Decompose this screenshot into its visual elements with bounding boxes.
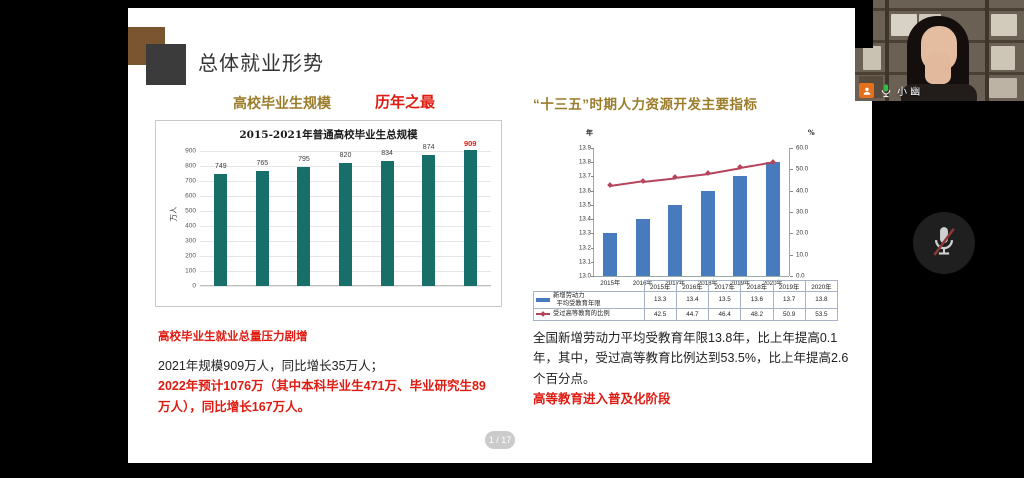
bar (297, 167, 310, 286)
right-body-line1: 全国新增劳动力平均受教育年限13.8年，比上年提高0.1年，其中，受过高等教育比… (533, 328, 851, 389)
bar (381, 161, 394, 286)
hr-bar (701, 191, 715, 276)
left-note-red: 高校毕业生就业总量压力剧增 (158, 328, 308, 344)
hr-left-tick: 13.8 (579, 159, 591, 166)
mute-microphone-button[interactable] (913, 212, 975, 274)
hr-bar (668, 205, 682, 276)
graduates-plot-area: 0100200300400500600700800900749765795820… (200, 151, 491, 286)
table-row: 新增劳动力 平均受教育年限13.313.413.513.613.713.8 (534, 292, 838, 309)
hr-left-tick: 13.5 (579, 201, 591, 208)
left-axis-unit: 年 (586, 128, 593, 138)
hr-legend-year: 2016年 (676, 281, 708, 292)
hr-left-tick: 13.0 (579, 273, 591, 280)
bar-value-label: 874 (423, 144, 435, 151)
screen: 总体就业形势 高校毕业生规模 历年之最 2015-2021年普通高校毕业生总规模… (0, 0, 1024, 478)
hr-bar (766, 162, 780, 276)
table-row: 受过高等教育的比例42.544.746.448.250.953.5 (534, 308, 838, 320)
hr-legend-bar-value: 13.3 (644, 292, 676, 309)
page-title: 总体就业形势 (198, 47, 324, 76)
bar (339, 163, 352, 286)
hr-left-tick: 13.7 (579, 173, 591, 180)
hr-legend-line-value: 48.2 (741, 308, 773, 320)
hr-right-tick: 0.0 (796, 273, 805, 280)
hr-plot-area: 13.013.113.213.313.413.513.613.713.813.9… (593, 148, 789, 277)
tick-mark (591, 176, 594, 177)
y-axis-tick: 300 (185, 238, 196, 245)
hr-left-tick: 13.1 (579, 258, 591, 265)
tick-mark (591, 148, 594, 149)
hr-right-tick: 10.0 (796, 251, 808, 258)
hr-left-tick: 13.9 (579, 145, 591, 152)
hr-line-segment (610, 181, 643, 187)
y-axis-tick: 100 (185, 268, 196, 275)
hr-legend-line-value: 50.9 (773, 308, 805, 320)
hr-legend-year: 2015年 (644, 281, 676, 292)
tick-mark (591, 191, 594, 192)
bar (422, 155, 435, 286)
hr-bar (636, 219, 650, 276)
hr-left-tick: 13.3 (579, 230, 591, 237)
hr-line-segment (675, 173, 708, 178)
y-axis-tick: 900 (185, 148, 196, 155)
microphone-icon (881, 83, 891, 99)
y-axis-tick: 500 (185, 208, 196, 215)
tick-mark (790, 191, 793, 192)
participant-video-tile[interactable]: 小 幽 (855, 0, 1024, 101)
y-axis-tick: 0 (192, 283, 196, 290)
tick-mark (591, 248, 594, 249)
bar-value-label: 765 (257, 160, 269, 167)
y-axis-tick: 700 (185, 178, 196, 185)
hr-legend-year: 2019年 (773, 281, 805, 292)
bar (214, 174, 227, 286)
hr-legend-year: 2018年 (741, 281, 773, 292)
bar-value-label: 795 (298, 156, 310, 163)
video-left-letterbox (855, 0, 873, 48)
hr-legend-table: 2015年2016年2017年2018年2019年2020年新增劳动力 平均受教… (533, 280, 838, 321)
hr-legend-line-value: 42.5 (644, 308, 676, 320)
hr-left-tick: 13.6 (579, 187, 591, 194)
right-subtitle-gold: “十三五”时期人力资源开发主要指标 (533, 93, 758, 113)
hr-bar (733, 176, 747, 276)
graduates-y-axis-label: 万人 (168, 206, 179, 221)
tick-mark (790, 169, 793, 170)
hr-left-tick: 13.4 (579, 216, 591, 223)
hr-line-marker (705, 170, 711, 176)
hr-legend-year: 2017年 (709, 281, 741, 292)
hr-legend-bar-value: 13.7 (773, 292, 805, 309)
slide-page-indicator: 1 / 17 (485, 431, 515, 449)
left-body-line1: 2021年规模909万人，同比增长35万人； (158, 356, 488, 376)
hr-line-segment (708, 167, 741, 174)
hr-right-tick: 20.0 (796, 230, 808, 237)
bar-value-label: 820 (340, 152, 352, 159)
hr-legend-header-row: 2015年2016年2017年2018年2019年2020年 (534, 281, 838, 292)
video-overlay-bar: 小 幽 (855, 79, 1024, 101)
tick-mark (790, 276, 793, 277)
hr-legend-bar-value: 13.6 (741, 292, 773, 309)
left-subtitle-gold: 高校毕业生规模 (233, 93, 331, 113)
hr-legend-bar-value: 13.4 (676, 292, 708, 309)
hr-line-marker (737, 165, 743, 171)
tick-mark (591, 276, 594, 277)
participant-name: 小 幽 (897, 83, 920, 98)
microphone-muted-icon (929, 226, 959, 260)
right-body-line2: 高等教育进入普及化阶段 (533, 389, 851, 409)
hr-legend-line-value: 44.7 (676, 308, 708, 320)
hr-right-tick: 30.0 (796, 209, 808, 216)
hr-right-tick: 60.0 (796, 145, 808, 152)
tick-mark (591, 262, 594, 263)
hr-bar (603, 233, 617, 276)
y-axis-tick: 600 (185, 193, 196, 200)
tick-mark (790, 255, 793, 256)
hr-left-tick: 13.2 (579, 244, 591, 251)
tick-mark (790, 148, 793, 149)
hr-legend-bar-value: 13.5 (709, 292, 741, 309)
bar-value-label: 909 (464, 139, 477, 148)
graduates-bar-chart: 2015-2021年普通高校毕业生总规模 万人 0100200300400500… (155, 120, 502, 307)
hr-legend-year: 2020年 (805, 281, 837, 292)
hr-line-marker (672, 174, 678, 180)
hr-line-marker (607, 182, 613, 188)
y-axis-tick: 400 (185, 223, 196, 230)
hr-right-tick: 50.0 (796, 166, 808, 173)
tick-mark (591, 162, 594, 163)
left-body-text: 2021年规模909万人，同比增长35万人； 2022年预计1076万（其中本科… (158, 356, 488, 417)
tick-mark (790, 233, 793, 234)
person-avatar-icon (859, 83, 874, 98)
bar-value-label: 834 (381, 150, 393, 157)
y-axis-tick: 200 (185, 253, 196, 260)
hr-line-marker (640, 178, 646, 184)
right-body-text: 全国新增劳动力平均受教育年限13.8年，比上年提高0.1年，其中，受过高等教育比… (533, 328, 851, 409)
hr-legend-line-name: 受过高等教育的比例 (534, 308, 645, 320)
tick-mark (790, 212, 793, 213)
tick-mark (591, 233, 594, 234)
graduates-chart-title: 2015-2021年普通高校毕业生总规模 (156, 127, 501, 142)
header-dark-square (146, 44, 186, 85)
gridline (200, 286, 491, 287)
hr-legend-line-value: 46.4 (709, 308, 741, 320)
hr-development-chart: 年 % 13.013.113.213.313.413.513.613.713.8… (528, 120, 843, 310)
hr-legend-corner (534, 281, 645, 292)
right-axis-unit: % (808, 128, 815, 137)
presentation-slide: 总体就业形势 高校毕业生规模 历年之最 2015-2021年普通高校毕业生总规模… (128, 8, 872, 463)
bar (464, 150, 477, 286)
hr-legend-bar-value: 13.8 (805, 292, 837, 309)
hr-line-segment (643, 177, 676, 182)
tick-mark (591, 219, 594, 220)
hr-legend-line-value: 53.5 (805, 308, 837, 320)
bar (256, 171, 269, 286)
hr-right-tick: 40.0 (796, 187, 808, 194)
left-subtitle-red: 历年之最 (375, 91, 435, 112)
y-axis-tick: 800 (185, 163, 196, 170)
left-body-line2: 2022年预计1076万（其中本科毕业生471万、毕业研究生89万人），同比增长… (158, 376, 488, 417)
hr-legend-bar-name: 新增劳动力 平均受教育年限 (534, 292, 645, 309)
bar-value-label: 749 (215, 163, 227, 170)
tick-mark (591, 205, 594, 206)
